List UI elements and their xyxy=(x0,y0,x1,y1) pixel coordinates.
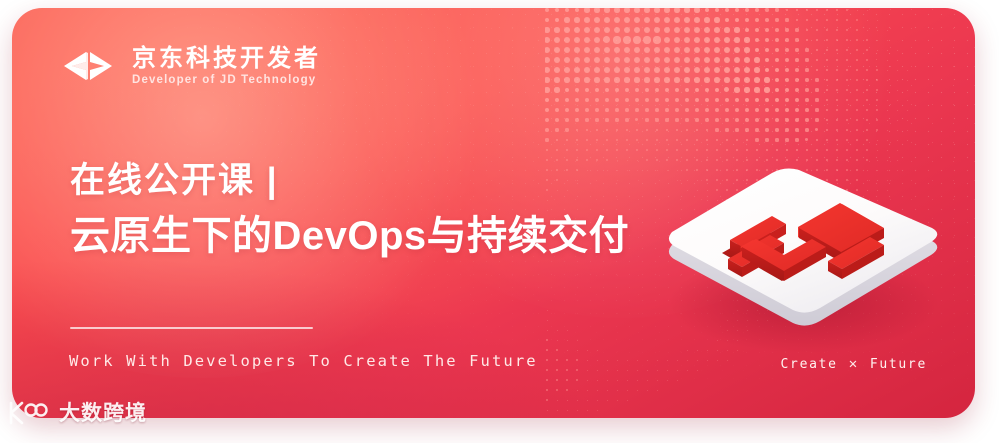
promo-banner-card: 京东科技开发者 Developer of JD Technology 在线公开课… xyxy=(12,8,975,418)
tagline-text: Work With Developers To Create The Futur… xyxy=(69,352,538,370)
dashukuajing-logo-icon xyxy=(6,400,52,426)
jd-3d-isometric-plate-logo-icon xyxy=(652,128,962,358)
brand-name-cn: 京东科技开发者 xyxy=(132,46,321,73)
watermark-text: 大数跨境 xyxy=(59,403,147,424)
screenshot-root: 京东科技开发者 Developer of JD Technology 在线公开课… xyxy=(0,0,999,443)
brand-lockup: 京东科技开发者 Developer of JD Technology xyxy=(62,46,321,87)
headline-line-1: 在线公开课 | xyxy=(70,160,629,201)
cross-icon: ✕ xyxy=(849,356,859,372)
headline-block: 在线公开课 | 云原生下的DevOps与持续交付 xyxy=(70,160,629,262)
watermark: 大数跨境 xyxy=(6,400,147,426)
create-label: Create xyxy=(781,357,838,372)
future-label: Future xyxy=(870,357,927,372)
create-x-future-block: Create ✕ Future xyxy=(781,356,927,372)
brand-text-block: 京东科技开发者 Developer of JD Technology xyxy=(132,46,321,87)
headline-line-2: 云原生下的DevOps与持续交付 xyxy=(70,210,629,262)
jd-chevron-logo-icon xyxy=(62,46,118,86)
headline-divider xyxy=(70,327,313,329)
brand-name-en: Developer of JD Technology xyxy=(132,74,321,87)
